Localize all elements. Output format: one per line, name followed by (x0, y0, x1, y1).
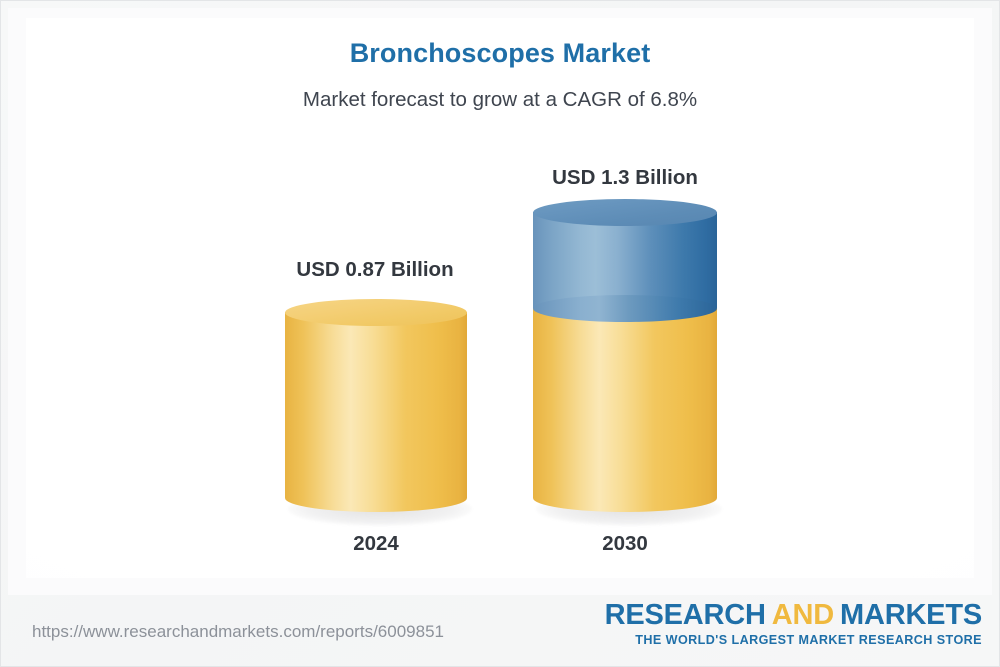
bar-2024-base (285, 484, 467, 512)
bar-2030-category-label: 2030 (525, 532, 725, 556)
logo-word-research: RESEARCH (605, 599, 766, 631)
bar-2030-base (533, 484, 717, 512)
bar-2024-category-label: 2024 (276, 532, 476, 556)
bar-2030-segment-seam (533, 295, 717, 322)
logo-word-and: AND (766, 599, 840, 631)
bar-2030-top-cap (533, 199, 717, 226)
page-title: Bronchoscopes Market (0, 38, 1000, 69)
logo-tagline: THE WORLD'S LARGEST MARKET RESEARCH STOR… (605, 633, 982, 647)
infographic-canvas: Bronchoscopes Market Market forecast to … (0, 0, 1000, 667)
bar-2024-top-cap (285, 299, 467, 326)
page-subtitle: Market forecast to grow at a CAGR of 6.8… (0, 88, 1000, 112)
bar-2024-body (285, 312, 467, 498)
logo-wordmark: RESEARCHANDMARKETS (605, 601, 982, 630)
bar-2030-body-yellow (533, 308, 717, 498)
report-url-link[interactable]: https://www.researchandmarkets.com/repor… (32, 622, 444, 642)
bar-2030-value-label: USD 1.3 Billion (505, 166, 745, 190)
researchandmarkets-logo[interactable]: RESEARCHANDMARKETS THE WORLD'S LARGEST M… (605, 601, 982, 647)
logo-word-markets: MARKETS (840, 599, 982, 631)
bar-2024-value-label: USD 0.87 Billion (255, 258, 495, 282)
bar-2030-body-blue (533, 212, 717, 308)
